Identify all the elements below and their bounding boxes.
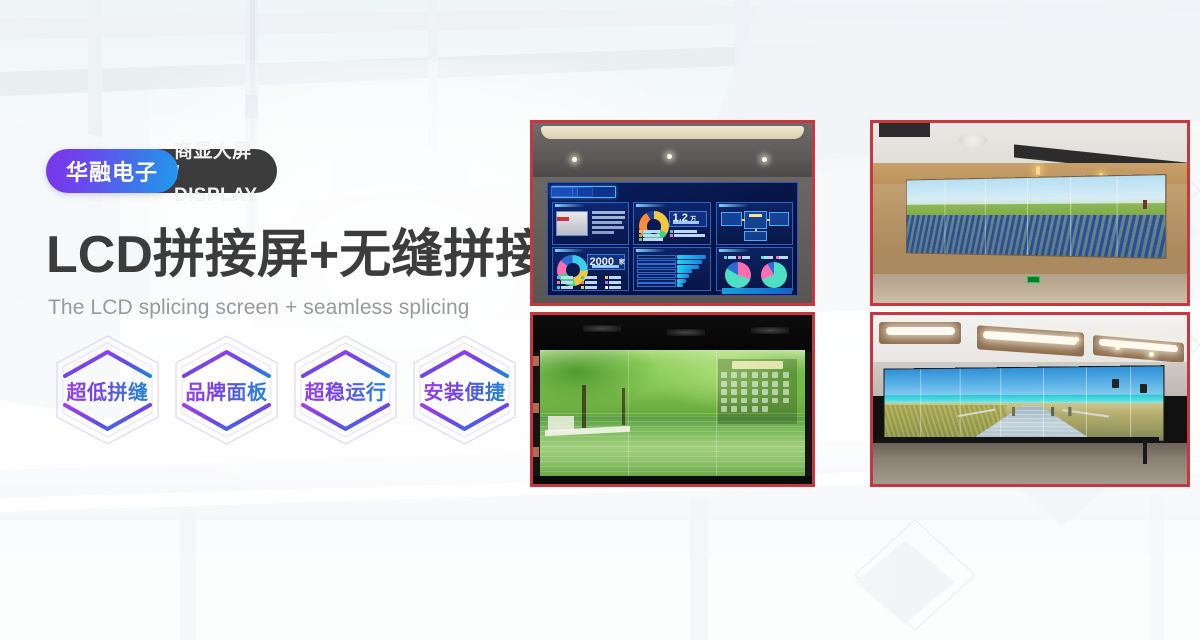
tree-trunk (622, 388, 625, 426)
legend-label (609, 281, 621, 284)
legend-label (742, 256, 750, 259)
panel-seam (1043, 368, 1044, 439)
calendar-cell (752, 381, 758, 387)
legend-dot (639, 234, 642, 237)
kpi-caption (673, 221, 699, 224)
legend-dot (605, 286, 608, 289)
calendar-cell (721, 389, 727, 395)
calendar-cell (783, 398, 789, 404)
legend-label (561, 276, 573, 279)
calendar-cell (721, 381, 727, 387)
mount-stand (1143, 440, 1147, 464)
panel-seam (921, 370, 922, 438)
calendar-cell (731, 406, 737, 412)
feature-badge-row: 超低拼缝 品牌面板 (48, 332, 524, 448)
bar-row (637, 260, 677, 264)
legend-dot (581, 286, 584, 289)
panel-seam (1117, 176, 1118, 257)
feature-badge-label: 品牌面板 (186, 376, 268, 405)
photo-solar-wall-content (873, 123, 1187, 303)
legend-dot (605, 276, 608, 279)
legend-dot (581, 276, 584, 279)
legend-label (609, 286, 621, 289)
ceiling-light-strip (886, 327, 955, 335)
legend-label (643, 230, 660, 233)
calendar-cell (772, 372, 778, 378)
mount-bracket (533, 447, 539, 457)
kpi-caption (592, 265, 619, 268)
flow-node (769, 212, 789, 226)
bar-row (637, 274, 677, 278)
person-silhouette (1068, 407, 1071, 416)
calendar-cell (741, 406, 747, 412)
legend-label (674, 230, 697, 233)
wall-speaker (1112, 379, 1119, 388)
videowall-dashboard-screen: 1.2 万 (547, 182, 798, 295)
bezel-reflection (751, 327, 789, 334)
legend-dot (639, 230, 642, 233)
bar-row (637, 279, 677, 283)
calendar-cell (752, 372, 758, 378)
legend-label (561, 286, 573, 289)
panel-seam (1070, 177, 1071, 256)
panel-ecosystem-flow (716, 202, 793, 244)
calendar-cell (762, 398, 768, 404)
legend-dot (557, 276, 560, 279)
calendar-cell (741, 372, 747, 378)
legend-label (585, 286, 597, 289)
flow-node (744, 231, 767, 241)
calendar-cell (752, 406, 758, 412)
calendar-cell (783, 389, 789, 395)
brand-row: 商显大屏 / DISPLAY 华融电子 (46, 149, 178, 193)
bar-row (637, 264, 677, 268)
lcd-screen (540, 350, 805, 475)
calendar-overlay (718, 359, 798, 424)
mount-bracket (533, 356, 539, 366)
legend-dot (639, 238, 642, 241)
legend-dot (776, 256, 779, 259)
calendar-cell (741, 389, 747, 395)
panel-seam (945, 180, 946, 254)
ceiling-downlight (1074, 337, 1079, 342)
feature-badge-label: 超稳运行 (305, 376, 387, 405)
bar-fill (677, 260, 702, 264)
calendar-cell (731, 372, 737, 378)
bar-row (637, 283, 677, 287)
panel-capability (552, 202, 629, 244)
bar-fill (677, 283, 683, 287)
panel-seam (960, 369, 961, 438)
calendar-cell (741, 381, 747, 387)
legend-dot (557, 281, 560, 284)
legend-dot (581, 281, 584, 284)
feature-badge-3: 安装便捷 (405, 332, 524, 448)
ceiling-diffuser (958, 134, 988, 147)
flow-arrow (767, 219, 770, 221)
legend-label (643, 234, 660, 237)
feature-badge-label: 安装便捷 (424, 376, 506, 405)
calendar-cell (762, 381, 768, 387)
videowall-screen (906, 174, 1166, 259)
panel-title (719, 249, 749, 252)
panel-title (555, 204, 585, 207)
calendar-cell (772, 398, 778, 404)
legend-label (728, 256, 736, 259)
bezel-reflection (583, 325, 621, 332)
panel-seam (985, 179, 986, 254)
panel-seam (1001, 369, 1002, 439)
ceiling-downlight (762, 157, 767, 162)
panel-seam (1027, 178, 1028, 255)
legend-dot (605, 281, 608, 284)
panel-title (719, 204, 749, 207)
legend-dot (670, 230, 673, 233)
panel-ranking-bars (633, 247, 711, 292)
legend-dot (557, 286, 560, 289)
text-line (592, 211, 625, 214)
photo-willow-lake (530, 312, 815, 487)
flow-node (721, 212, 742, 226)
calendar-cell (783, 381, 789, 387)
calendar-cell (772, 389, 778, 395)
ceiling-downlight (667, 154, 672, 159)
text-line (592, 226, 624, 229)
text-line (592, 216, 625, 219)
wall-speaker (1140, 384, 1147, 393)
exit-sign (1027, 276, 1040, 283)
calendar-cell (721, 372, 727, 378)
feature-badge-0: 超低拼缝 (48, 332, 167, 448)
videowall-base-frame (876, 437, 1159, 444)
accent-lamp (1036, 166, 1040, 175)
calendar-cell (762, 406, 768, 412)
tree-trunk (582, 385, 586, 428)
flow-arrow (755, 229, 757, 231)
legend-label (779, 256, 787, 259)
mount-bracket (533, 403, 539, 413)
bar-fill (677, 279, 685, 283)
calendar-cell (721, 398, 727, 404)
panel-title (555, 249, 585, 252)
calendar-cell (731, 398, 737, 404)
brand-name-pill: 华融电子 (46, 149, 178, 193)
calendar-cell (731, 389, 737, 395)
legend-dot (761, 256, 764, 259)
flow-label (749, 214, 763, 217)
feature-badge-1: 品牌面板 (167, 332, 286, 448)
calendar-cell (783, 372, 789, 378)
ceiling-vent (879, 123, 929, 137)
dashboard-header (548, 183, 797, 200)
bar-row (637, 269, 677, 273)
calendar-cell (752, 389, 758, 395)
text-line (592, 221, 622, 224)
polished-floor (873, 443, 1187, 484)
calendar-cell (772, 381, 778, 387)
display-bottom-bezel (533, 476, 812, 484)
flow-arrow (742, 219, 745, 221)
text-line (592, 231, 615, 234)
pie-chart (761, 262, 787, 288)
panel-seam (1086, 368, 1087, 440)
thumbnail-image (556, 211, 588, 236)
person-silhouette (1012, 407, 1015, 416)
calendar-cell (762, 372, 768, 378)
panel-regional-distribution: 2000 家 (552, 247, 629, 292)
panel-pie-statistics (716, 247, 793, 292)
thumbnail-accent (557, 217, 569, 221)
legend-label (609, 276, 621, 279)
photo-willow-lake-content (533, 315, 812, 484)
photo-beach-wall (870, 312, 1190, 487)
feature-badge-label: 超低拼缝 (67, 376, 149, 405)
person-silhouette (1051, 407, 1054, 416)
videowall-screen (884, 366, 1164, 442)
left-content-column: 商显大屏 / DISPLAY 华融电子 LCD拼接屏+无缝拼接 The LCD … (46, 0, 546, 640)
bar-row (637, 255, 677, 259)
legend-dot (724, 256, 727, 259)
photo-dashboard-content: 1.2 万 (533, 123, 812, 303)
panel-title (636, 249, 667, 252)
legend-label (585, 281, 597, 284)
calendar-title (732, 361, 783, 369)
bar-fill (677, 274, 688, 278)
photo-solar-wall (870, 120, 1190, 306)
panel-title (636, 204, 667, 207)
panel-industry-stats: 1.2 万 (633, 202, 711, 244)
legend-dot (670, 234, 673, 237)
bar-fill (677, 265, 698, 269)
ceiling-cove-light (541, 126, 803, 139)
calendar-cell (731, 381, 737, 387)
dashboard-ticker (722, 288, 792, 294)
page-title: LCD拼接屏+无缝拼接 (46, 228, 547, 283)
page-subtitle: The LCD splicing screen + seamless splic… (48, 296, 470, 320)
display-left-bezel (533, 352, 540, 477)
legend-dot (738, 256, 741, 259)
calendar-cell (721, 406, 727, 412)
pie-chart (725, 262, 751, 288)
feature-badge-2: 超稳运行 (286, 332, 405, 448)
dashboard-tab (551, 187, 573, 197)
bar-fill (677, 269, 692, 273)
legend-label (561, 281, 573, 284)
panel-seam (1130, 367, 1131, 440)
promotional-banner: 商显大屏 / DISPLAY 华融电子 LCD拼接屏+无缝拼接 The LCD … (0, 0, 1200, 640)
calendar-cell (762, 389, 768, 395)
legend-label (764, 256, 772, 259)
legend-label (643, 238, 663, 241)
legend-label (585, 276, 597, 279)
photo-beach-wall-content (873, 315, 1187, 484)
water-reflection (540, 416, 805, 476)
photo-dashboard: 1.2 万 (530, 120, 815, 306)
bar-fill (677, 255, 706, 259)
panel-seam (540, 413, 805, 414)
legend-label (674, 234, 705, 237)
display-right-bezel (805, 352, 812, 477)
wall-fixture (1143, 200, 1147, 209)
bezel-reflection (667, 329, 705, 336)
calendar-cell (752, 398, 758, 404)
kpi-unit: 家 (619, 257, 625, 266)
calendar-cell (741, 398, 747, 404)
